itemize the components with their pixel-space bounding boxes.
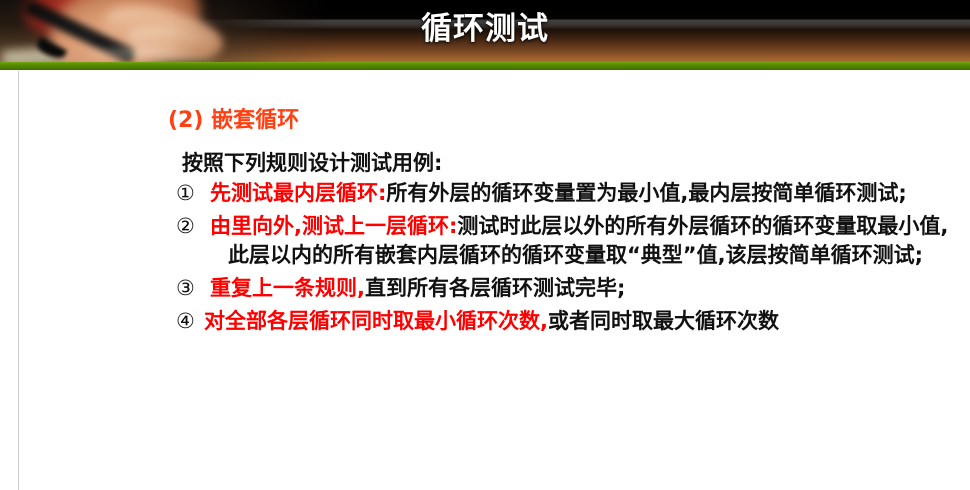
rule-marker: ③ bbox=[176, 274, 195, 303]
green-accent-bar bbox=[0, 62, 970, 70]
slide-content: (2) 嵌套循环 按照下列规则设计测试用例: ① 先测试最内层循环:所有外层的循… bbox=[0, 71, 970, 490]
rule-marker: ② bbox=[176, 212, 195, 241]
section-heading: (2) 嵌套循环 bbox=[168, 102, 299, 134]
rule-body: 重复上一条规则,直到所有各层循环测试完毕; bbox=[210, 274, 966, 303]
slide-header-banner: 循环测试 bbox=[0, 0, 970, 70]
slide-title: 循环测试 bbox=[0, 0, 970, 58]
rule-marker: ④ bbox=[176, 307, 195, 336]
rule-title: 先测试最内层循环: bbox=[210, 181, 386, 205]
rule-text: 或者同时取最大循环次数 bbox=[548, 309, 779, 333]
rule-text: 直到所有各层循环测试完毕; bbox=[365, 276, 625, 300]
rule-title: 对全部各层循环同时取最小循环次数, bbox=[204, 309, 548, 333]
rule-item: ① 先测试最内层循环:所有外层的循环变量置为最小值,最内层按简单循环测试; bbox=[176, 179, 966, 208]
rule-item: ③ 重复上一条规则,直到所有各层循环测试完毕; bbox=[176, 274, 966, 303]
rule-item: ② 由里向外,测试上一层循环:测试时此层以外的所有外层循环的循环变量取最小值,此… bbox=[176, 212, 966, 270]
rule-item: ④ 对全部各层循环同时取最小循环次数,或者同时取最大循环次数 bbox=[176, 307, 966, 336]
rule-list: ① 先测试最内层循环:所有外层的循环变量置为最小值,最内层按简单循环测试; ② … bbox=[176, 179, 966, 340]
rule-title: 重复上一条规则, bbox=[210, 276, 365, 300]
rule-text: 所有外层的循环变量置为最小值,最内层按简单循环测试; bbox=[386, 181, 906, 205]
rule-title: 由里向外,测试上一层循环: bbox=[210, 214, 457, 238]
rule-body: 由里向外,测试上一层循环:测试时此层以外的所有外层循环的循环变量取最小值,此层以… bbox=[210, 212, 966, 270]
rule-marker: ① bbox=[176, 179, 195, 208]
slide: 循环测试 (2) 嵌套循环 按照下列规则设计测试用例: ① 先测试最内层循环:所… bbox=[0, 0, 970, 490]
rule-body: 对全部各层循环同时取最小循环次数,或者同时取最大循环次数 bbox=[204, 307, 966, 336]
intro-line: 按照下列规则设计测试用例: bbox=[182, 147, 442, 177]
rule-body: 先测试最内层循环:所有外层的循环变量置为最小值,最内层按简单循环测试; bbox=[210, 179, 966, 208]
